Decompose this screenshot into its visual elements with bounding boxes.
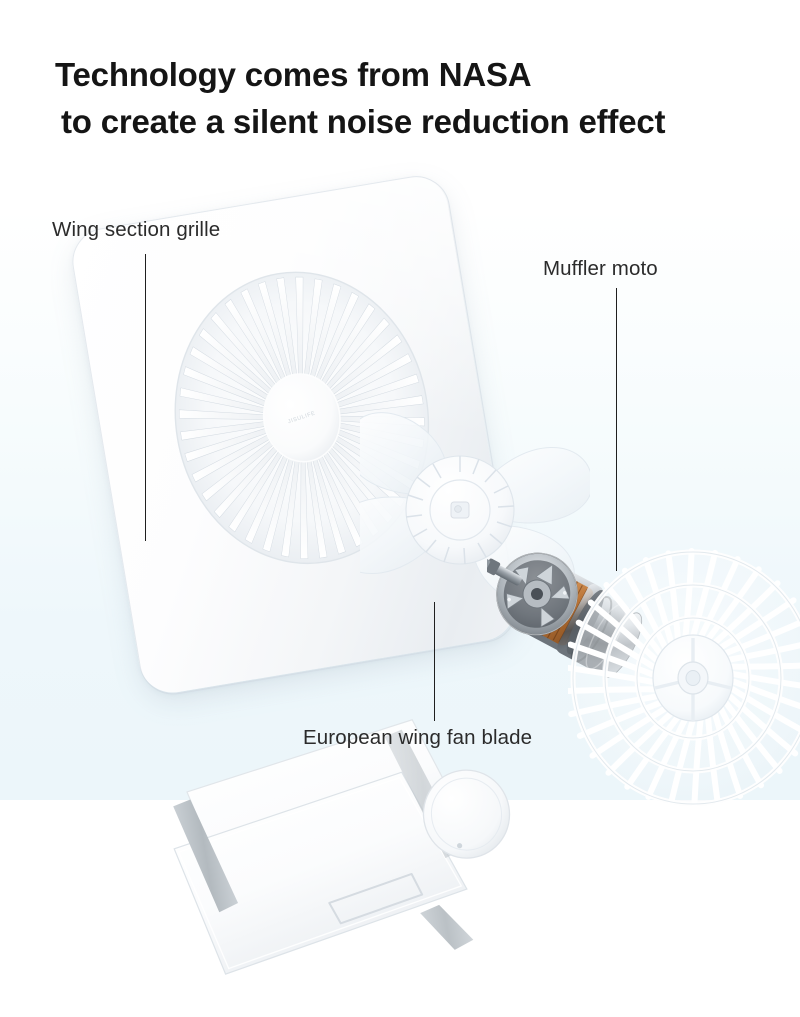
rear-cage-grille — [568, 548, 800, 810]
headline-line-1: Technology comes from NASA — [55, 56, 531, 93]
leader-line-grille — [145, 254, 146, 541]
leader-line-blade — [434, 602, 435, 721]
leader-line-motor — [616, 288, 617, 571]
headline-line-2: to create a silent noise reduction effec… — [55, 99, 755, 146]
callout-label-european-wing-fan-blade: European wing fan blade — [303, 726, 532, 750]
callout-label-muffler-moto: Muffler moto — [543, 257, 658, 281]
page-title: Technology comes from NASA to create a s… — [55, 52, 755, 146]
callout-label-wing-section-grille: Wing section grille — [52, 218, 220, 242]
infographic-canvas: Technology comes from NASA to create a s… — [0, 0, 800, 800]
